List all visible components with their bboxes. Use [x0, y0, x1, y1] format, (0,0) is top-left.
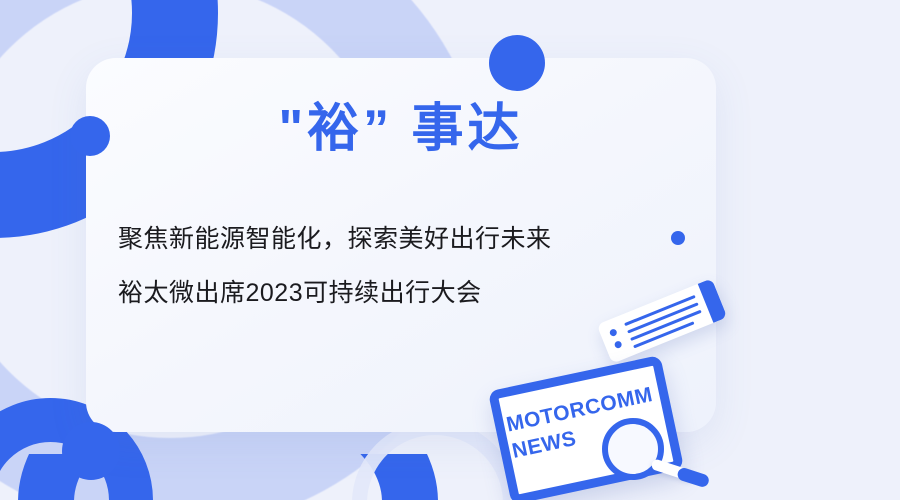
accent-dot-left [70, 116, 110, 156]
subtitle: 聚焦新能源智能化，探索美好出行未来 裕太微出席2023可持续出行大会 [118, 212, 678, 320]
subtitle-line-1: 聚焦新能源智能化，探索美好出行未来 [118, 212, 678, 266]
magnifier-lens [602, 418, 664, 480]
accent-dot-top [489, 35, 545, 91]
list-bullets-icon [609, 328, 625, 355]
accent-dot-bottom-left [62, 422, 120, 480]
news-card-illustration: MOTORCOMM NEWS [498, 372, 688, 500]
accent-dot-bullet [671, 231, 685, 245]
magnifier-icon [602, 418, 664, 480]
page-title: "裕” 事达 [86, 100, 716, 160]
subtitle-line-2: 裕太微出席2023可持续出行大会 [118, 266, 678, 320]
news-banner: "裕” 事达 聚焦新能源智能化，探索美好出行未来 裕太微出席2023可持续出行大… [0, 0, 900, 500]
